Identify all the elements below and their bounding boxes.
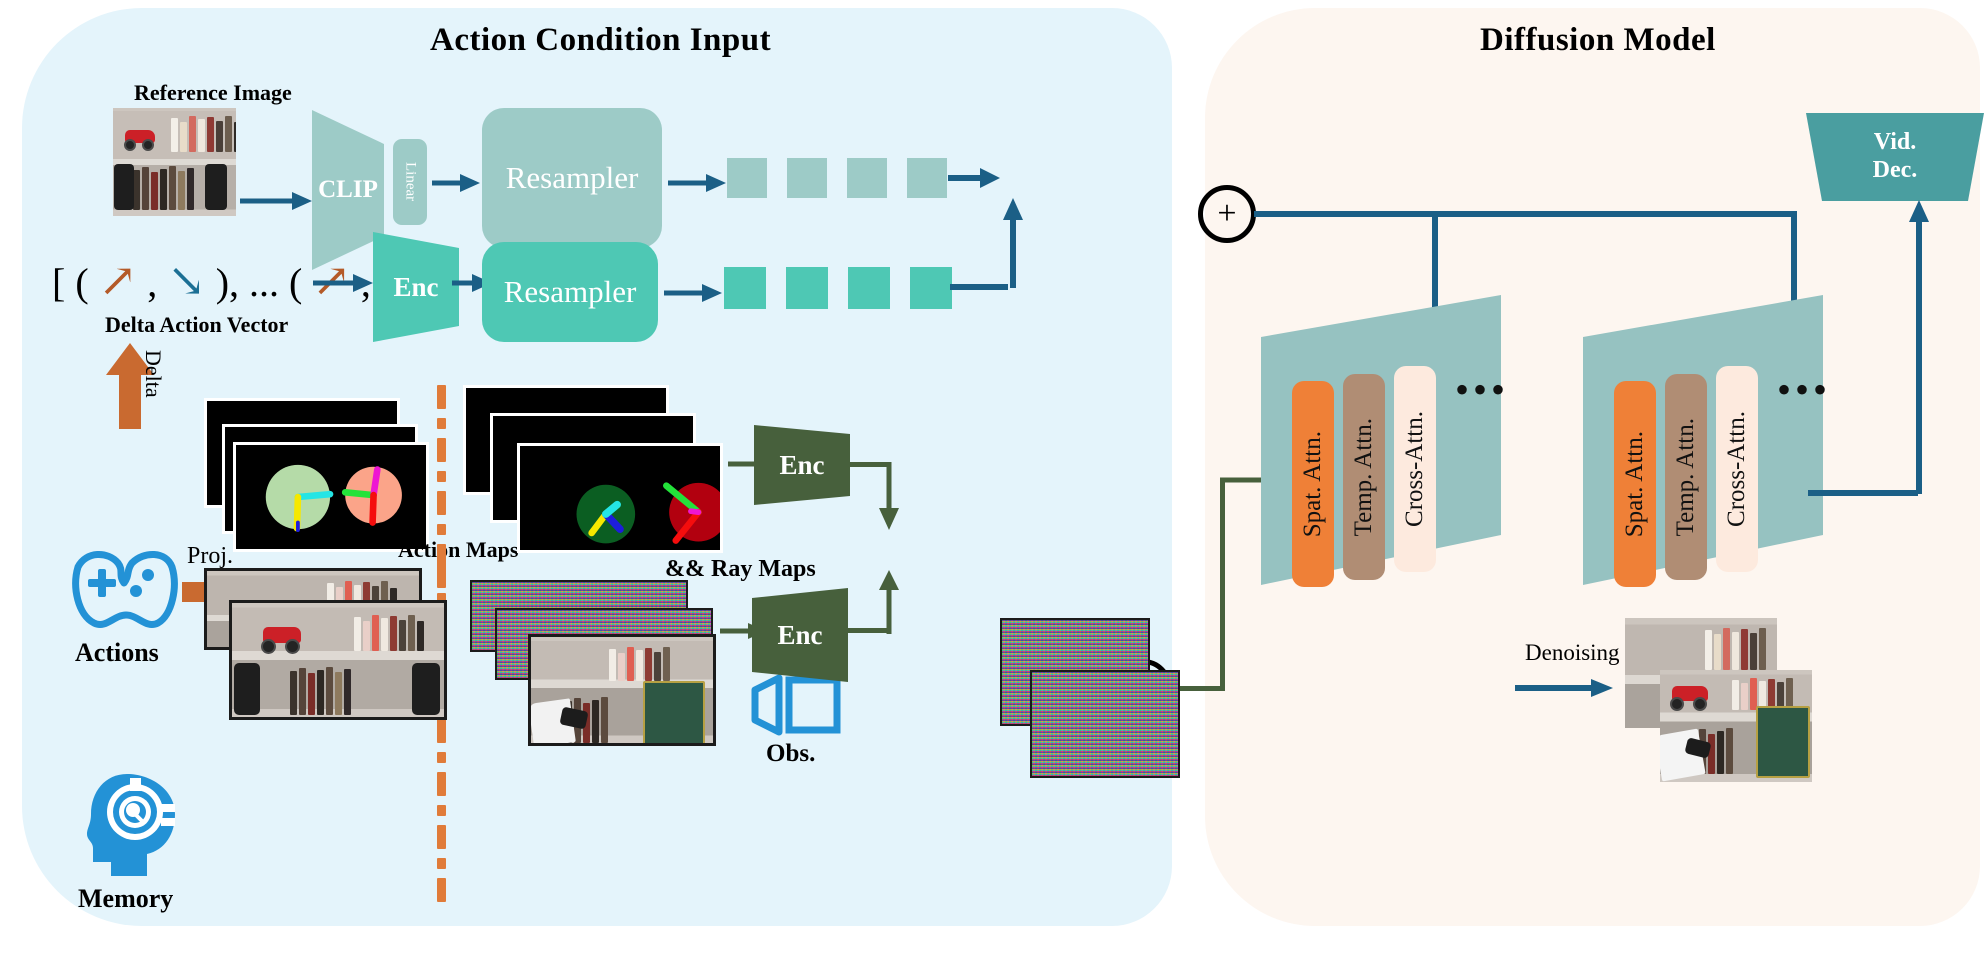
panel-title-diffusion-model: Diffusion Model	[1480, 22, 1716, 59]
image-token-chip	[787, 158, 827, 198]
cross-attn-block-2[interactable]: Cross-Attn.	[1716, 366, 1758, 572]
reference-image-label: Reference Image	[134, 80, 292, 106]
arrow-resampler-to-tokens-action	[664, 282, 722, 304]
ray-maps-label: && Ray Maps	[665, 556, 816, 583]
resampler-image-label: Resampler	[506, 160, 639, 196]
obs-label: Obs.	[766, 740, 815, 768]
delta-arrow-label: Delta	[140, 350, 166, 398]
obs-clean-frame-front	[528, 634, 716, 746]
actions-label: Actions	[75, 638, 159, 668]
image-token-chip	[727, 158, 767, 198]
denoise-output-frame-front	[1660, 670, 1812, 782]
spat-attn-block-1[interactable]: Spat. Attn.	[1292, 381, 1334, 587]
linear-label: Linear	[402, 162, 419, 201]
diagram-canvas: Action Condition Input Diffusion Model R…	[0, 0, 1988, 980]
toy-car-graphic	[1670, 686, 1710, 712]
camera-obs-icon	[751, 674, 841, 736]
temp-attn-block-1[interactable]: Temp. Attn.	[1343, 374, 1385, 580]
sum-node-condition: +	[1198, 185, 1256, 243]
proj-label: Proj.	[187, 543, 233, 570]
action-token-chip	[910, 267, 952, 309]
spat-attn-label-2: Spat. Attn.	[1621, 431, 1649, 537]
memory-brain-icon	[85, 768, 177, 878]
resampler-image-block[interactable]: Resampler	[482, 108, 662, 248]
image-token-chip	[847, 158, 887, 198]
spat-attn-label-1: Spat. Attn.	[1299, 431, 1327, 537]
panel-title-action-condition-input: Action Condition Input	[430, 22, 771, 59]
temp-attn-block-2[interactable]: Temp. Attn.	[1665, 374, 1707, 580]
enc-raymaps-block[interactable]: Enc	[754, 425, 850, 505]
wire-unet2-to-viddec	[1808, 490, 1918, 496]
arrow-unet2-up-to-viddec	[1908, 198, 1930, 494]
unet-ellipsis-2: •••	[1777, 370, 1831, 410]
wire-action-tokens-right	[950, 284, 1008, 290]
arrow-image-tokens-to-sum	[948, 167, 1000, 189]
cross-attn-label-2: Cross-Attn.	[1723, 411, 1751, 527]
spat-attn-block-2[interactable]: Spat. Attn.	[1614, 381, 1656, 587]
arrow-enc-obs-up-to-sum	[878, 568, 900, 634]
arrow-action-tokens-up-to-sum	[1002, 196, 1024, 288]
enc-obs-block[interactable]: Enc	[752, 588, 848, 682]
temp-attn-label-2: Temp. Attn.	[1672, 418, 1700, 536]
ray-map-frame-front	[517, 443, 723, 553]
wire-condition-bus	[1254, 211, 1794, 217]
toy-car-graphic	[123, 130, 157, 152]
unet-ellipsis-1: •••	[1455, 370, 1509, 410]
denoise-input-frame-front	[1030, 670, 1180, 778]
arrow-resampler-to-tokens-image	[668, 172, 726, 194]
arrow-delta-to-enc	[313, 272, 373, 294]
arrow-refimage-to-clip	[240, 190, 312, 212]
reference-image-thumb	[113, 108, 236, 216]
wire-sum-latent-up	[1220, 478, 1225, 688]
toy-car-graphic	[260, 627, 304, 655]
linear-block[interactable]: Linear	[393, 139, 427, 225]
video-decoder-block[interactable]: Vid. Dec.	[1806, 113, 1984, 201]
action-token-chip	[786, 267, 828, 309]
temp-attn-label-1: Temp. Attn.	[1350, 418, 1378, 536]
action-token-chip	[724, 267, 766, 309]
cross-attn-block-1[interactable]: Cross-Attn.	[1394, 366, 1436, 572]
arrow-enc-raymaps-down-to-sum	[878, 462, 900, 530]
cross-attn-label-1: Cross-Attn.	[1401, 411, 1429, 527]
action-token-chip	[848, 267, 890, 309]
resampler-action-label: Resampler	[504, 274, 637, 310]
delta-action-vector-label: Delta Action Vector	[105, 312, 288, 338]
enc-action-block[interactable]: Enc	[373, 232, 459, 342]
denoising-label: Denoising	[1525, 640, 1620, 666]
gamepad-icon	[60, 545, 180, 635]
action-maps-label: Action Maps	[398, 537, 518, 563]
memory-frame-front	[229, 600, 447, 720]
image-token-chip	[907, 158, 947, 198]
arrow-linear-to-resampler	[432, 172, 480, 194]
resampler-action-block[interactable]: Resampler	[482, 242, 658, 342]
action-map-frame-front	[233, 442, 429, 552]
denoising-arrow	[1515, 678, 1613, 698]
sum-symbol: +	[1217, 197, 1236, 231]
memory-label: Memory	[78, 884, 173, 914]
